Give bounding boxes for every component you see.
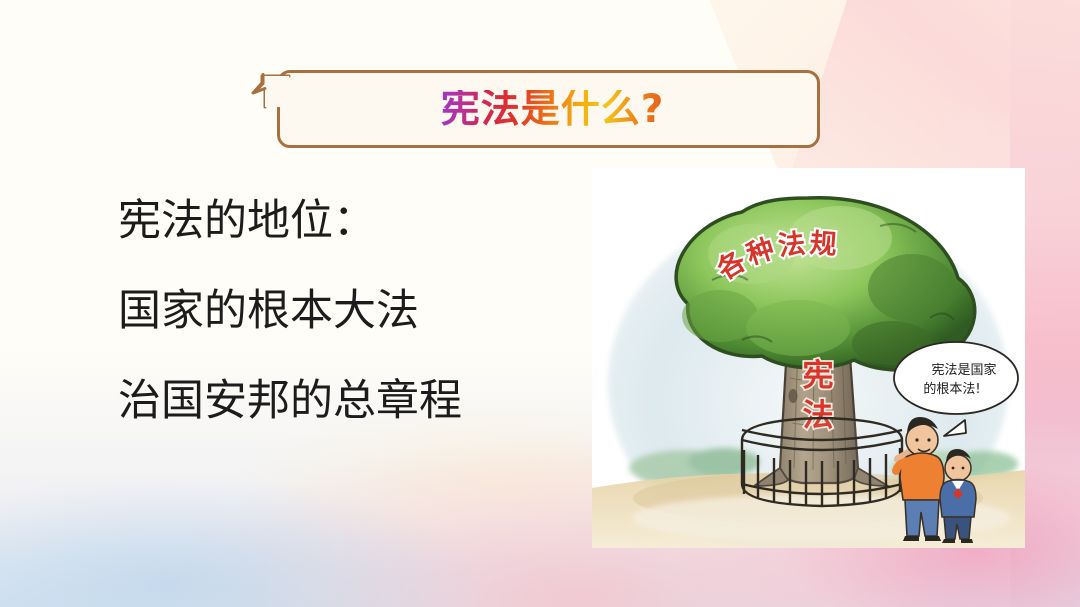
- figure-child: [940, 449, 976, 543]
- body-line-3: 治国安邦的总章程: [118, 380, 548, 423]
- illustration-bubble-line-2: 的根本法!: [923, 381, 980, 397]
- svg-text:宪: 宪: [803, 358, 834, 394]
- illustration-bubble-line-1: 宪法是国家: [931, 362, 996, 378]
- slide-canvas: 宪法是什么? 宪法的地位： 国家的根本大法 治国安邦的总章程: [0, 0, 1080, 607]
- title-speech-bubble: 宪法是什么?: [277, 70, 820, 148]
- illustration-panel: 各种法规 宪 法: [592, 168, 1025, 548]
- page-title: 宪法是什么?: [441, 90, 665, 129]
- body-text-block: 宪法的地位： 国家的根本大法 治国安邦的总章程: [118, 200, 548, 423]
- constitution-tree-illustration: 各种法规 宪 法: [592, 168, 1025, 548]
- body-line-2: 国家的根本大法: [118, 290, 548, 333]
- speech-bubble-tail-icon: [249, 67, 293, 111]
- body-line-1: 宪法的地位：: [118, 200, 548, 243]
- tree-fence: [742, 418, 902, 506]
- background-bottom-blue-glow: [0, 477, 480, 607]
